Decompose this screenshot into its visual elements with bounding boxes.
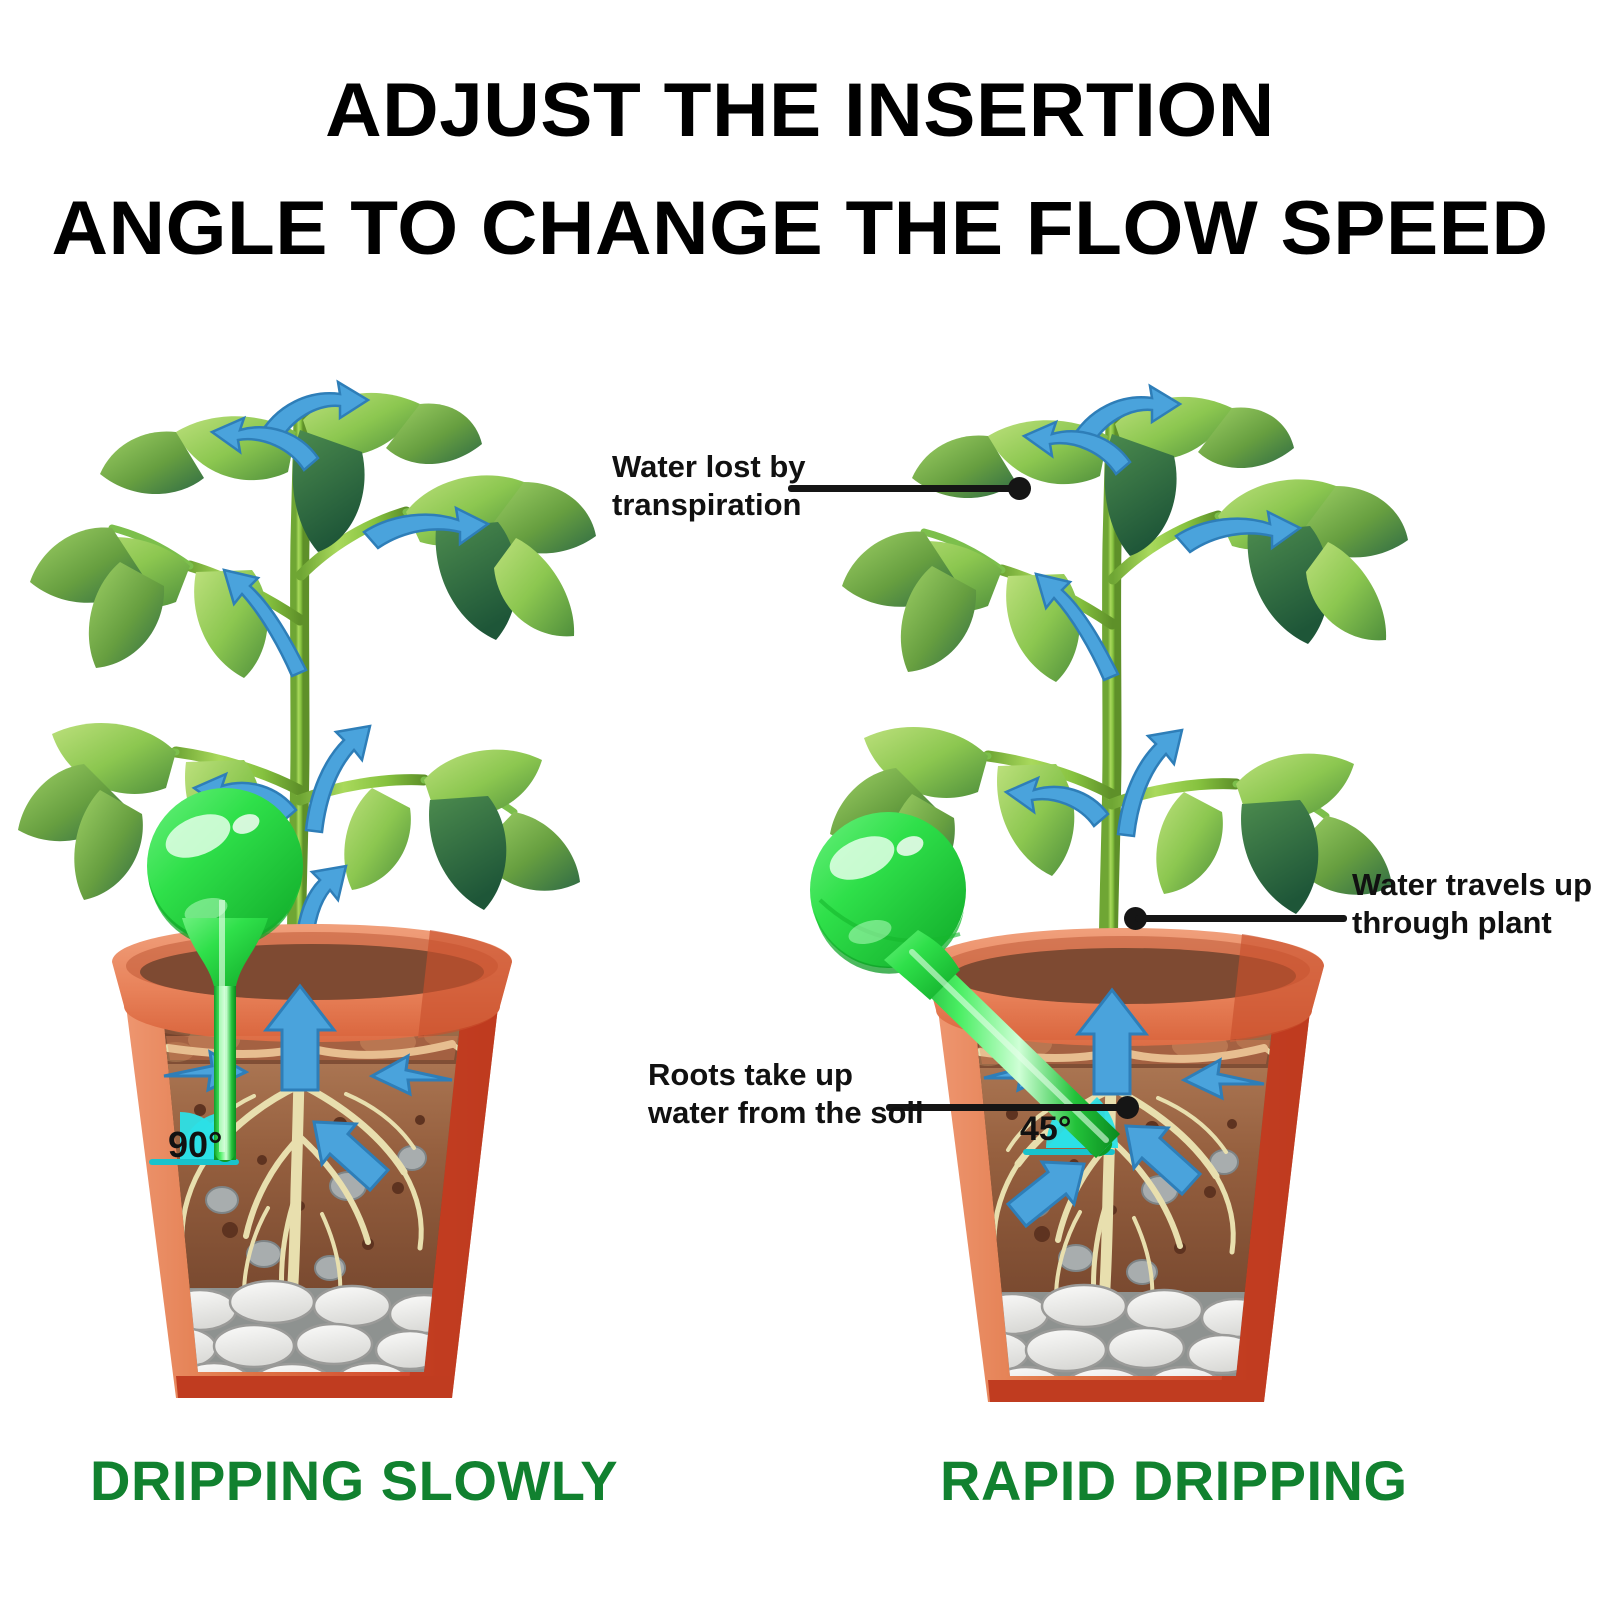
soil-speck bbox=[1034, 1226, 1050, 1242]
soil-speck bbox=[257, 1155, 267, 1165]
leaf bbox=[1156, 792, 1223, 894]
pot-base bbox=[176, 1376, 452, 1398]
leader-dot-transpiration bbox=[1008, 477, 1031, 500]
scene-dripping-slowly bbox=[0, 0, 800, 1600]
leader-line-travels-up bbox=[1135, 915, 1347, 922]
scene-rapid-dripping bbox=[800, 0, 1600, 1600]
globe-tube-highlight bbox=[219, 900, 225, 1152]
callout-transpiration: Water lost by transpiration bbox=[612, 448, 806, 524]
leaf-cluster-right-upper bbox=[406, 475, 596, 640]
pot-rim-shadow bbox=[1230, 934, 1324, 1042]
leaf-cluster-right-upper bbox=[1218, 479, 1408, 644]
leader-dot-roots bbox=[1116, 1096, 1139, 1119]
pot-rim-shadow bbox=[418, 930, 512, 1038]
callout-water-travels-up: Water travels up through plant bbox=[1352, 866, 1592, 942]
soil-speck bbox=[194, 1104, 206, 1116]
angle-label-left: 90° bbox=[168, 1124, 222, 1166]
leaf-dark bbox=[1241, 800, 1318, 914]
soil-speck bbox=[415, 1115, 425, 1125]
left-illustration bbox=[0, 0, 800, 1600]
soil-speck bbox=[1227, 1119, 1237, 1129]
pot-base bbox=[988, 1380, 1264, 1402]
leader-line-transpiration bbox=[788, 485, 1016, 492]
right-illustration bbox=[800, 0, 1600, 1600]
leaf-cluster-left-upper bbox=[30, 528, 268, 678]
plant-left bbox=[18, 393, 596, 975]
angle-label-right: 45° bbox=[1020, 1110, 1071, 1149]
pebble bbox=[206, 1187, 238, 1213]
soil-speck bbox=[1204, 1186, 1216, 1198]
caption-dripping-slowly: DRIPPING SLOWLY bbox=[90, 1448, 618, 1513]
leaf bbox=[344, 788, 411, 890]
callout-roots-uptake: Roots take up water from the soil bbox=[648, 1056, 924, 1132]
soil-speck bbox=[392, 1182, 404, 1194]
caption-rapid-dripping: RAPID DRIPPING bbox=[940, 1448, 1408, 1513]
leaf-cluster-left-upper bbox=[842, 532, 1080, 682]
infographic-canvas: ADJUST THE INSERTION ANGLE TO CHANGE THE… bbox=[0, 0, 1600, 1600]
soil-speck bbox=[222, 1222, 238, 1238]
leaf-dark bbox=[429, 796, 506, 910]
pot-right bbox=[924, 928, 1324, 1408]
leaf-cluster-right-lower bbox=[344, 750, 580, 910]
